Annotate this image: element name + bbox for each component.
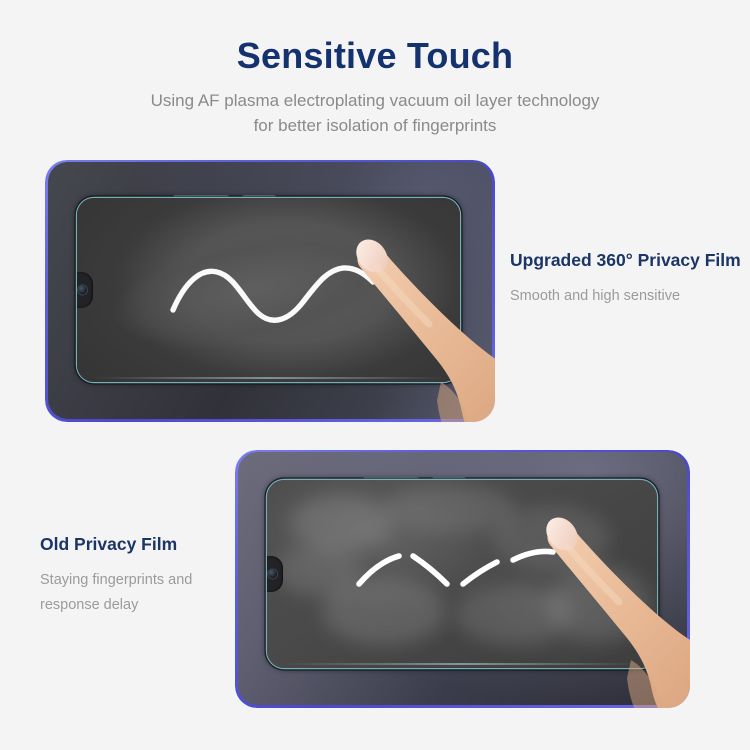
caption-upgraded-film: Upgraded 360° Privacy Film Smooth and hi… [510,250,741,309]
caption-old-subtitle: Staying fingerprints and response delay [40,568,192,619]
caption-old-subtitle-line-2: response delay [40,593,192,618]
header: Sensitive Touch Using AF plasma electrop… [0,0,750,139]
caption-old-film: Old Privacy Film Staying fingerprints an… [40,534,192,619]
phone-upgraded-film [45,160,495,422]
hand-upgraded [345,232,495,422]
phone-old-film [235,450,690,708]
caption-old-subtitle-line-1: Staying fingerprints and [40,568,192,593]
hand-old [535,510,690,708]
page-subtitle-line-2: for better isolation of fingerprints [0,113,750,139]
caption-upgraded-subtitle: Smooth and high sensitive [510,284,741,309]
page-subtitle-line-1: Using AF plasma electroplating vacuum oi… [0,88,750,114]
page-subtitle: Using AF plasma electroplating vacuum oi… [0,76,750,139]
index-finger-icon-bottom [535,510,690,708]
caption-upgraded-title: Upgraded 360° Privacy Film [510,250,741,271]
caption-old-title: Old Privacy Film [40,534,192,555]
index-finger-icon [345,232,495,422]
caption-upgraded-subtitle-line-1: Smooth and high sensitive [510,284,741,309]
page-title: Sensitive Touch [0,0,750,76]
product-feature-banner: Sensitive Touch Using AF plasma electrop… [0,0,750,750]
